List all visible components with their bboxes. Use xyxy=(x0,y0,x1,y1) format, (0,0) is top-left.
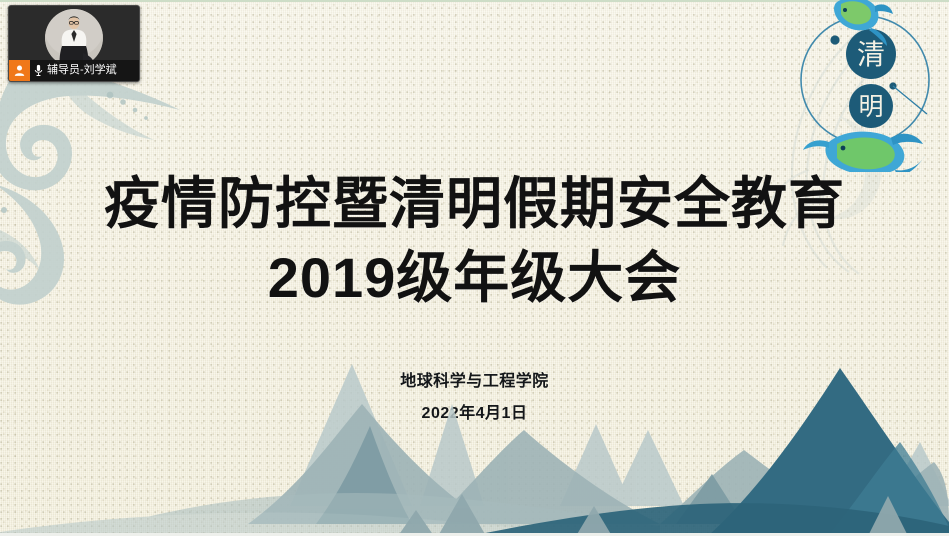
department-label: 地球科学与工程学院 xyxy=(0,367,949,391)
presentation-screen: 清 明 疫情防控暨清明假期安全教育 2019级年级大会 地球科学与工程学院 20… xyxy=(0,0,949,536)
participant-name-label: 辅导员-刘学斌 xyxy=(47,60,120,81)
participant-name-bar: 辅导员-刘学斌 xyxy=(9,60,139,81)
microphone-icon xyxy=(30,60,47,81)
top-border-rule xyxy=(0,0,949,2)
avatar xyxy=(45,9,103,67)
date-label: 2022年4月1日 xyxy=(0,399,949,423)
participant-photo xyxy=(45,9,103,67)
person-icon xyxy=(9,60,30,81)
slide-title-line-2: 2019级年级大会 xyxy=(0,248,949,308)
video-participant-tile[interactable]: 辅导员-刘学斌 xyxy=(8,5,140,82)
slide-title-line-1: 疫情防控暨清明假期安全教育 xyxy=(0,174,949,234)
